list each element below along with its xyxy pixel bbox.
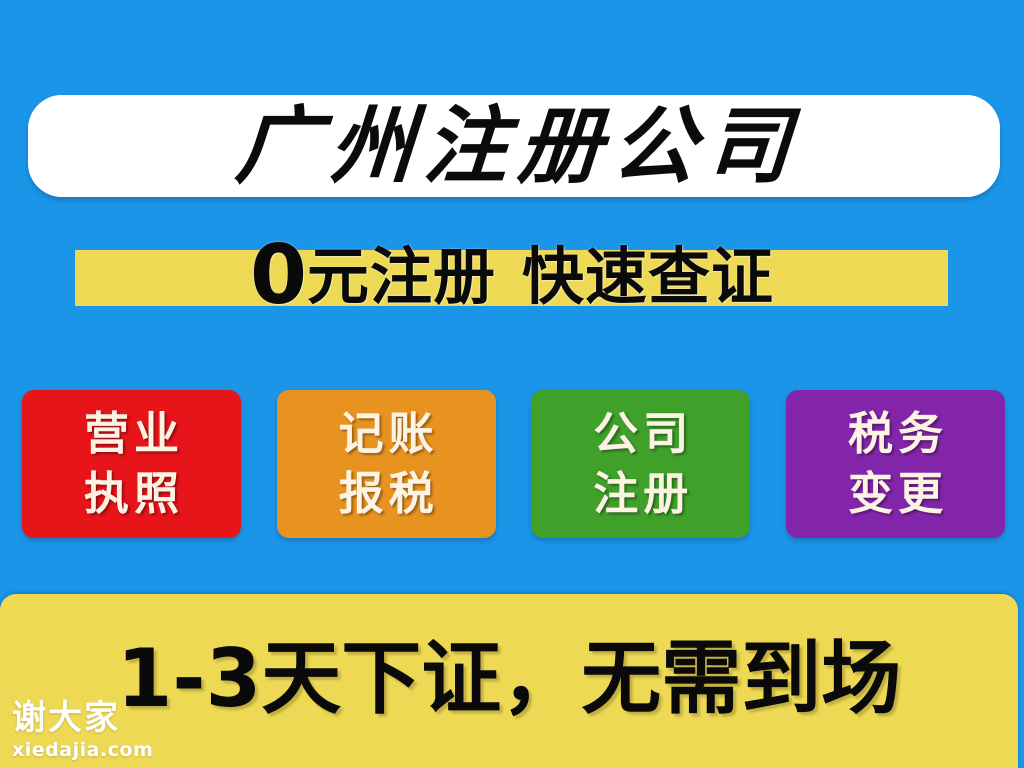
service-card-tax-change[interactable]: 税务 变更 (786, 390, 1005, 538)
watermark: 谢大家 xiedajia.com (12, 701, 153, 760)
service-card-line1: 营业 (79, 404, 184, 464)
service-card-bookkeeping-tax[interactable]: 记账 报税 (277, 390, 496, 538)
service-card-line2: 注册 (588, 464, 693, 524)
subheadline-part1: 元注册 (307, 240, 496, 313)
service-card-line1: 公司 (588, 404, 693, 464)
service-card-line2: 执照 (79, 464, 184, 524)
service-card-line1: 税务 (843, 404, 948, 464)
poster-canvas: 广州注册公司 0元注册快速查证 营业 执照 记账 报税 公司 注册 税务 变更 … (0, 0, 1024, 768)
service-card-row: 营业 执照 记账 报税 公司 注册 税务 变更 (22, 390, 1005, 538)
subheadline-part2: 快速查证 (522, 240, 774, 313)
page-title: 广州注册公司 (25, 104, 1003, 188)
watermark-url: xiedajia.com (12, 741, 153, 760)
service-card-business-license[interactable]: 营业 执照 (22, 390, 241, 538)
service-card-line2: 变更 (843, 464, 948, 524)
title-plate: 广州注册公司 (28, 95, 1000, 197)
service-card-company-registration[interactable]: 公司 注册 (531, 390, 750, 538)
service-card-line2: 报税 (334, 464, 439, 524)
watermark-name: 谢大家 (12, 701, 153, 735)
service-card-line1: 记账 (334, 404, 439, 464)
zero-price-number: 0 (250, 228, 307, 323)
subheadline-text: 0元注册快速查证 (0, 228, 1024, 325)
